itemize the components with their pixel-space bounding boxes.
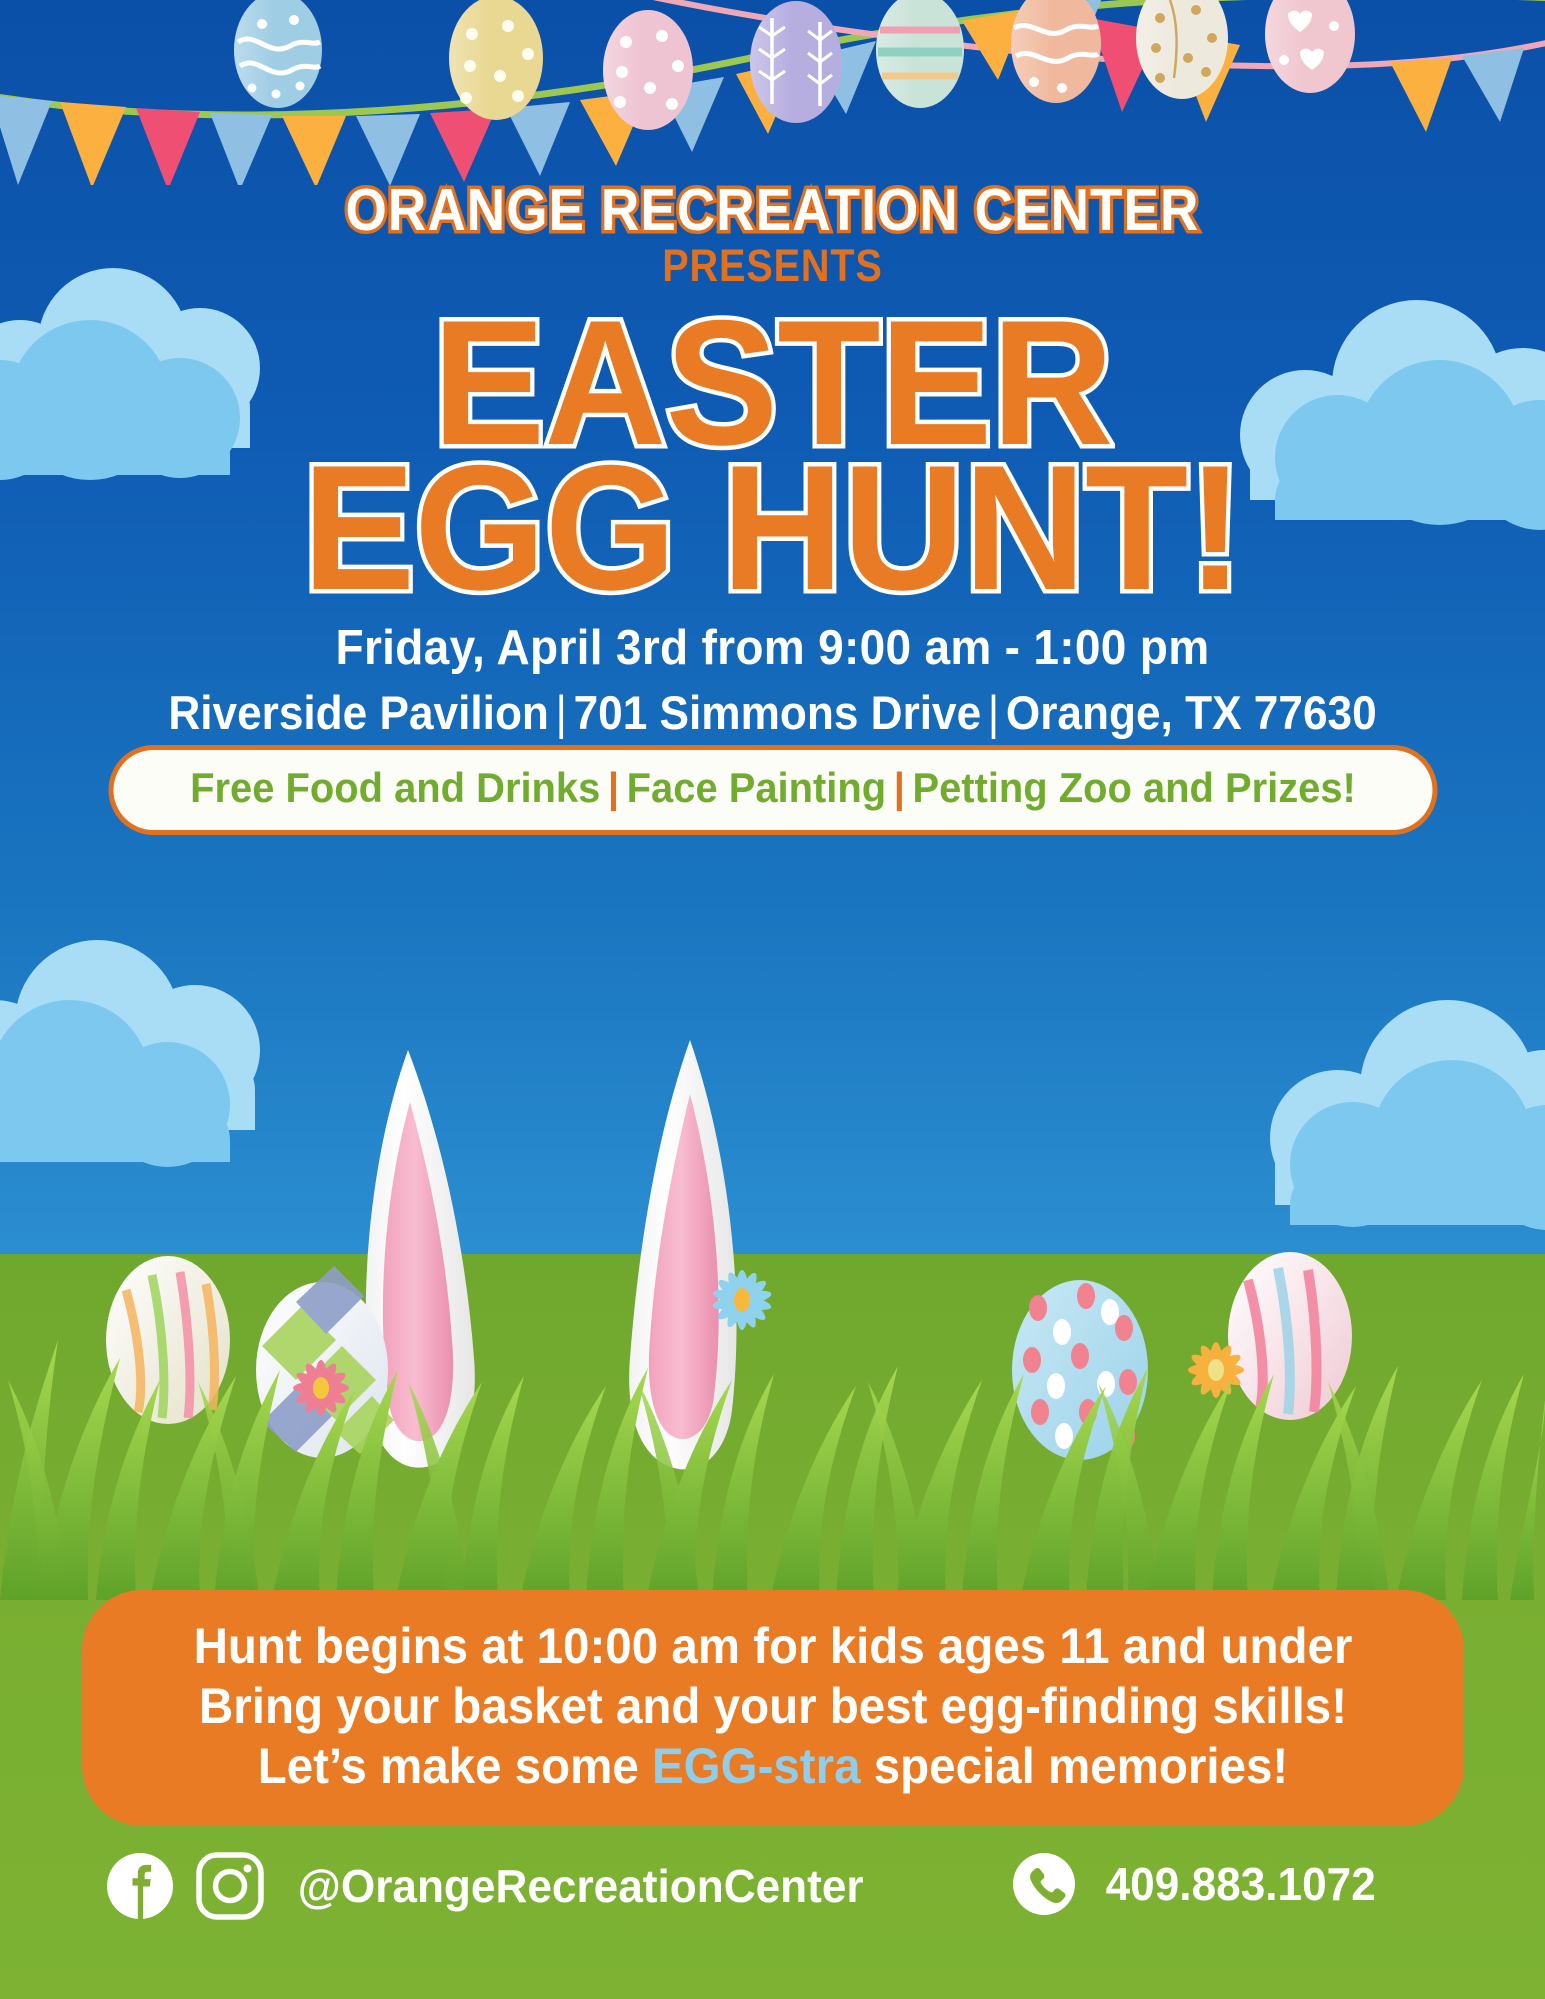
features-text: Free Food and Drinks|Face Painting|Petti…: [190, 764, 1356, 812]
location-separator-1: |: [549, 686, 574, 739]
features-pill: Free Food and Drinks|Face Painting|Petti…: [108, 745, 1437, 835]
banner-line-2: Bring your basket and your best egg-find…: [135, 1676, 1410, 1736]
headline-line-2: EGG HUNT!: [39, 455, 1507, 601]
feature-separator-2: |: [886, 764, 912, 811]
phone-number[interactable]: 409.883.1072: [1106, 1857, 1376, 1911]
location-street: 701 Simmons Drive: [574, 686, 982, 739]
facebook-icon[interactable]: [106, 1852, 174, 1920]
easter-egg-hunt-flyer: ORANGE RECREATION CENTER PRESENTS EASTER…: [0, 0, 1545, 1999]
page-title: ORANGE RECREATION CENTER: [77, 176, 1468, 244]
feature-item-1: Free Food and Drinks: [190, 764, 600, 811]
social-group: @OrangeRecreationCenter: [106, 1852, 875, 1920]
banner-line-3: Let’s make some EGG-stra special memorie…: [135, 1736, 1410, 1796]
banner-line-3-before: Let’s make some: [257, 1738, 651, 1794]
location-separator-2: |: [981, 686, 1006, 739]
location-city-state-zip: Orange, TX 77630: [1006, 686, 1377, 739]
feature-item-3: Petting Zoo and Prizes!: [912, 764, 1355, 811]
info-banner: Hunt begins at 10:00 am for kids ages 11…: [82, 1590, 1464, 1826]
feature-separator-1: |: [600, 764, 626, 811]
banner-line-1: Hunt begins at 10:00 am for kids ages 11…: [135, 1616, 1410, 1676]
bunny-ears: [366, 1040, 737, 1469]
instagram-icon[interactable]: [196, 1852, 264, 1920]
phone-group: 409.883.1072: [1012, 1852, 1381, 1916]
banner-line-3-highlight: EGG-stra: [651, 1738, 860, 1794]
social-handle[interactable]: @OrangeRecreationCenter: [298, 1859, 864, 1913]
easter-scene-illustration: [0, 1040, 1545, 1600]
feature-item-2: Face Painting: [626, 764, 885, 811]
event-datetime: Friday, April 3rd from 9:00 am - 1:00 pm: [46, 620, 1498, 676]
bunting-decoration: [0, 0, 1545, 185]
banner-line-3-after: special memories!: [860, 1738, 1288, 1794]
event-location: Riverside Pavilion|701 Simmons Drive|Ora…: [46, 685, 1498, 740]
footer-contact-bar: @OrangeRecreationCenter 409.883.1072: [0, 1852, 1545, 1999]
location-venue: Riverside Pavilion: [168, 686, 549, 739]
phone-icon[interactable]: [1012, 1852, 1076, 1916]
